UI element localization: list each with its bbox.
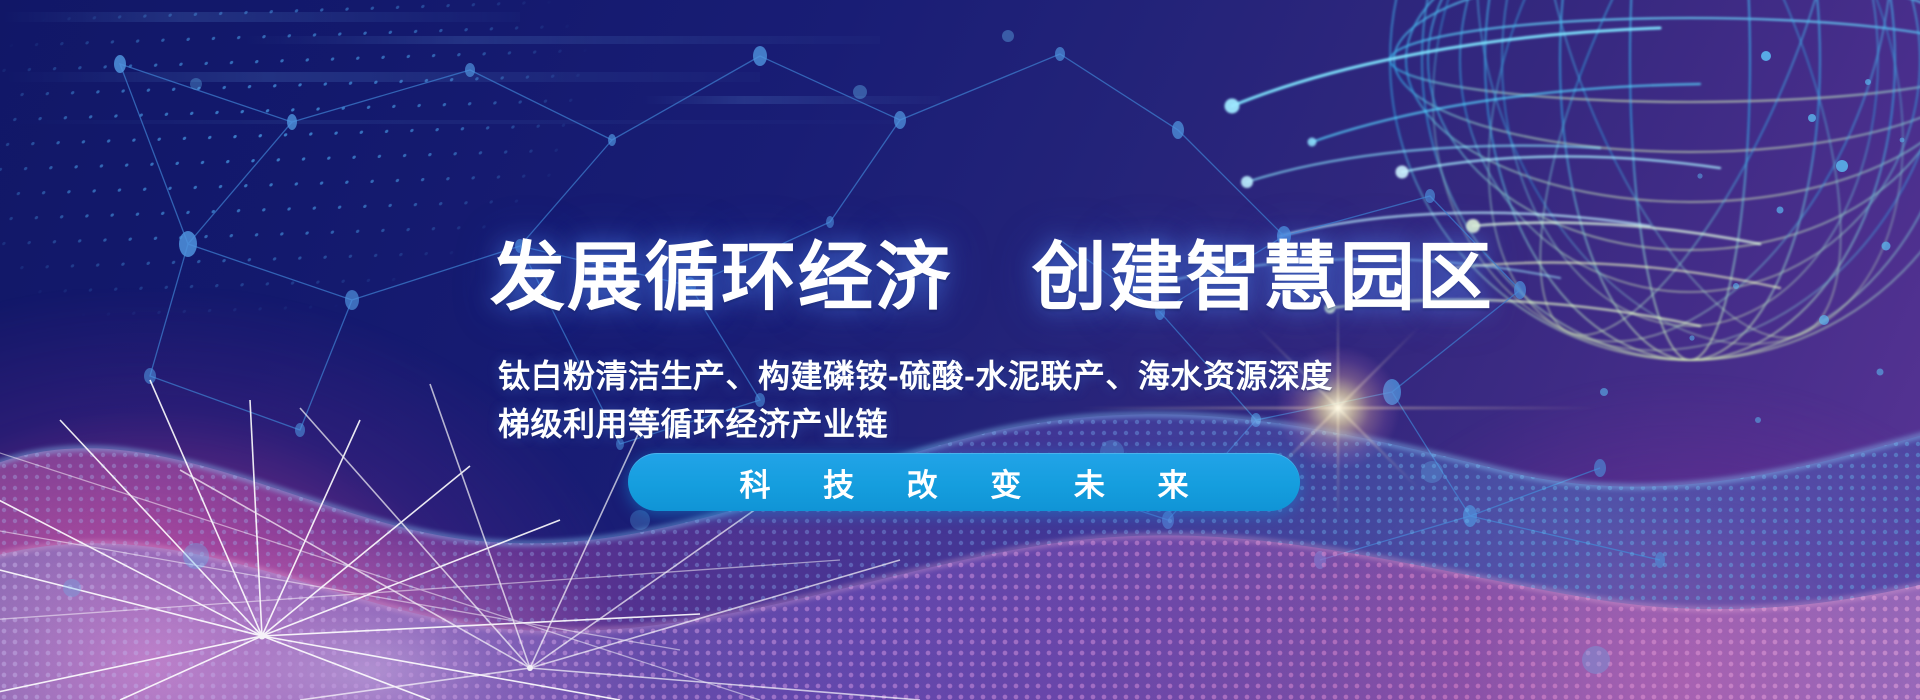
hero-banner: 发展循环经济 创建智慧园区 钛白粉清洁生产、构建磷铵-硫酸-水泥联产、海水资源深…: [0, 0, 1920, 700]
headline-part-1: 发展循环经济: [490, 235, 952, 319]
subtitle-line-2: 梯级利用等循环经济产业链: [498, 400, 1333, 448]
slogan-cta-button[interactable]: 科 技 改 变 未 来: [628, 453, 1300, 511]
banner-subtitle: 钛白粉清洁生产、构建磷铵-硫酸-水泥联产、海水资源深度 梯级利用等循环经济产业链: [498, 352, 1333, 448]
headline-part-2: 创建智慧园区: [1032, 235, 1494, 319]
banner-content: 发展循环经济 创建智慧园区 钛白粉清洁生产、构建磷铵-硫酸-水泥联产、海水资源深…: [0, 0, 1920, 700]
subtitle-line-1: 钛白粉清洁生产、构建磷铵-硫酸-水泥联产、海水资源深度: [498, 352, 1333, 400]
banner-headline: 发展循环经济 创建智慧园区: [490, 240, 1494, 315]
